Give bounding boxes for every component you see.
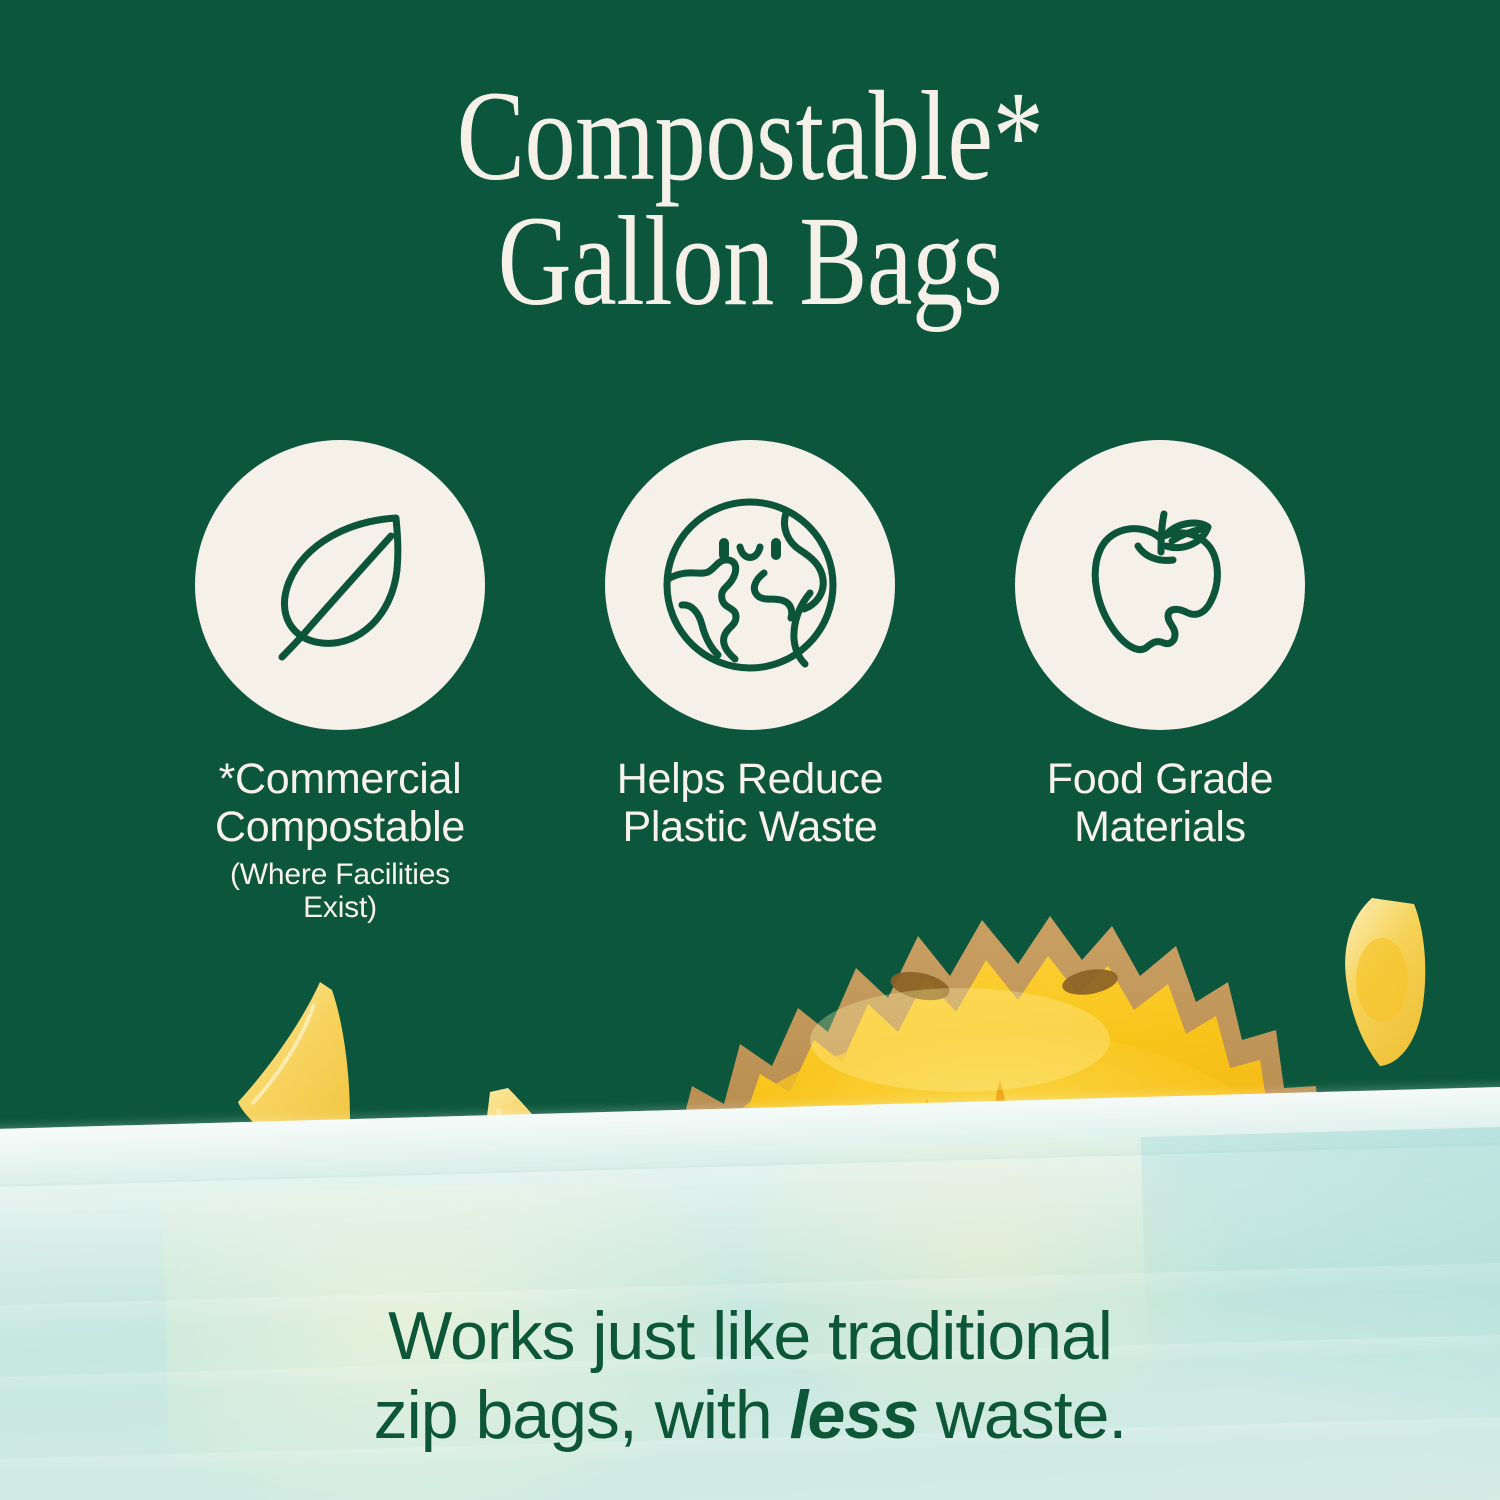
- tagline: Works just like traditional zip bags, wi…: [0, 1297, 1500, 1455]
- feature-item-reduce-plastic: Helps Reduce Plastic Waste: [603, 440, 898, 858]
- apple-bite-icon: [1065, 490, 1255, 680]
- globe-smile-icon: [652, 487, 848, 683]
- tagline-line-1: Works just like traditional: [388, 1298, 1112, 1374]
- product-marketing-image: Compostable* Gallon Bags *Commercial Com…: [0, 0, 1500, 1500]
- headline-line-1: Compostable*: [457, 65, 1044, 207]
- apple-badge: [1015, 440, 1305, 730]
- globe-badge: [605, 440, 895, 730]
- tagline-line-2-before: zip bags, with: [374, 1377, 790, 1453]
- headline-line-2: Gallon Bags: [150, 199, 1350, 324]
- leaf-badge: [195, 440, 485, 730]
- tagline-emphasis: less: [790, 1377, 918, 1453]
- leaf-icon: [245, 490, 435, 680]
- tagline-line-2: zip bags, with less waste.: [0, 1376, 1500, 1455]
- page-title: Compostable* Gallon Bags: [150, 74, 1350, 325]
- tagline-line-2-after: waste.: [918, 1377, 1126, 1453]
- feature-item-food-grade: Food Grade Materials: [1013, 440, 1308, 858]
- pineapple-chunk-right: [1330, 890, 1470, 1085]
